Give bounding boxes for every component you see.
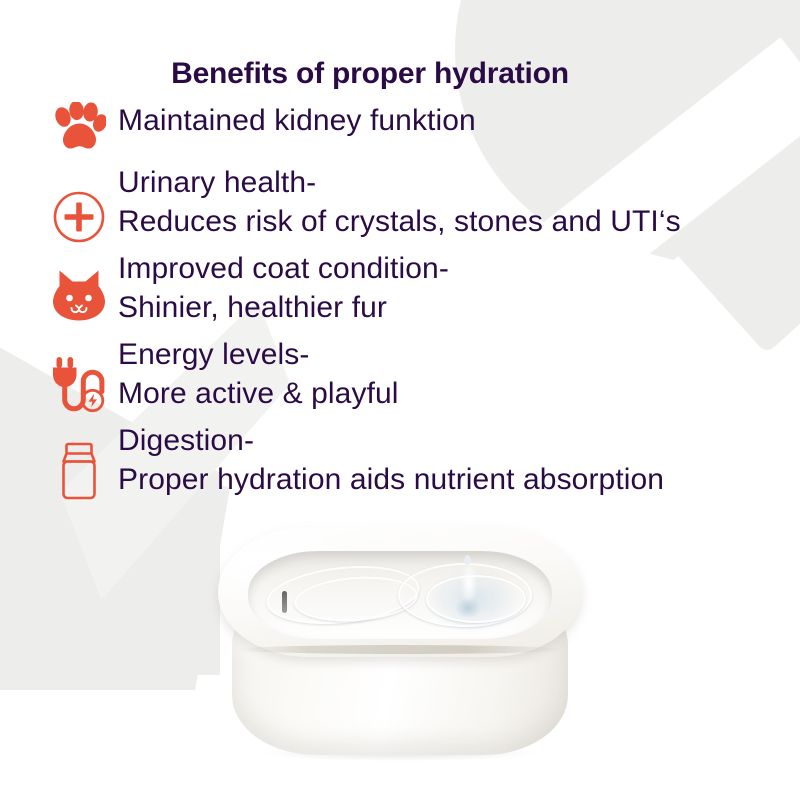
benefit-line-1: Digestion- [118,424,254,457]
benefit-icon-slot [40,334,118,414]
benefit-item: Urinary health- Reduces risk of crystals… [40,162,681,244]
product-image-pet-water-fountain [218,527,582,762]
cat-face-icon [51,268,107,322]
benefit-item: Improved coat condition- Shinier, health… [40,248,449,327]
benefit-line-2: Proper hydration aids nutrient absorptio… [118,460,664,499]
benefit-item: Energy levels- More active & playful [40,334,399,414]
benefit-icon-slot [40,162,118,244]
benefit-icon-slot [40,420,118,500]
water-droplet [464,555,471,565]
fountain-spout [282,591,287,613]
paw-icon [52,102,106,154]
power-plug-bolt-icon [49,356,109,414]
benefit-text: Digestion- Proper hydration aids nutrien… [118,420,664,499]
benefit-text: Urinary health- Reduces risk of crystals… [118,162,681,241]
benefit-item: Digestion- Proper hydration aids nutrien… [40,420,664,500]
benefit-icon-slot [40,100,118,154]
page-title: Benefits of proper hydration [0,57,740,91]
benefit-line-1: Energy levels- [118,338,309,371]
benefit-text: Energy levels- More active & playful [118,334,399,413]
fountain-water-basin [248,551,552,639]
bottle-icon [54,442,104,500]
benefit-item: Maintained kidney funktion [40,100,476,154]
hydration-benefits-infographic: Benefits of proper hydration Maintained … [0,0,800,800]
benefit-icon-slot [40,248,118,322]
benefit-line-2: Reduces risk of crystals, stones and UTI… [118,202,681,241]
fountain-seam [236,645,564,654]
benefit-line-2: More active & playful [118,374,399,413]
benefit-line-1: Urinary health- [118,166,316,199]
benefit-line-1: Improved coat condition- [118,252,449,285]
benefit-line-1: Maintained kidney funktion [118,104,476,137]
fountain-rim [218,527,582,657]
benefit-text: Improved coat condition- Shinier, health… [118,248,449,327]
plus-circle-icon [52,190,106,244]
water-splash [446,561,490,617]
benefit-line-2: Shinier, healthier fur [118,288,449,327]
benefit-text: Maintained kidney funktion [118,100,476,140]
